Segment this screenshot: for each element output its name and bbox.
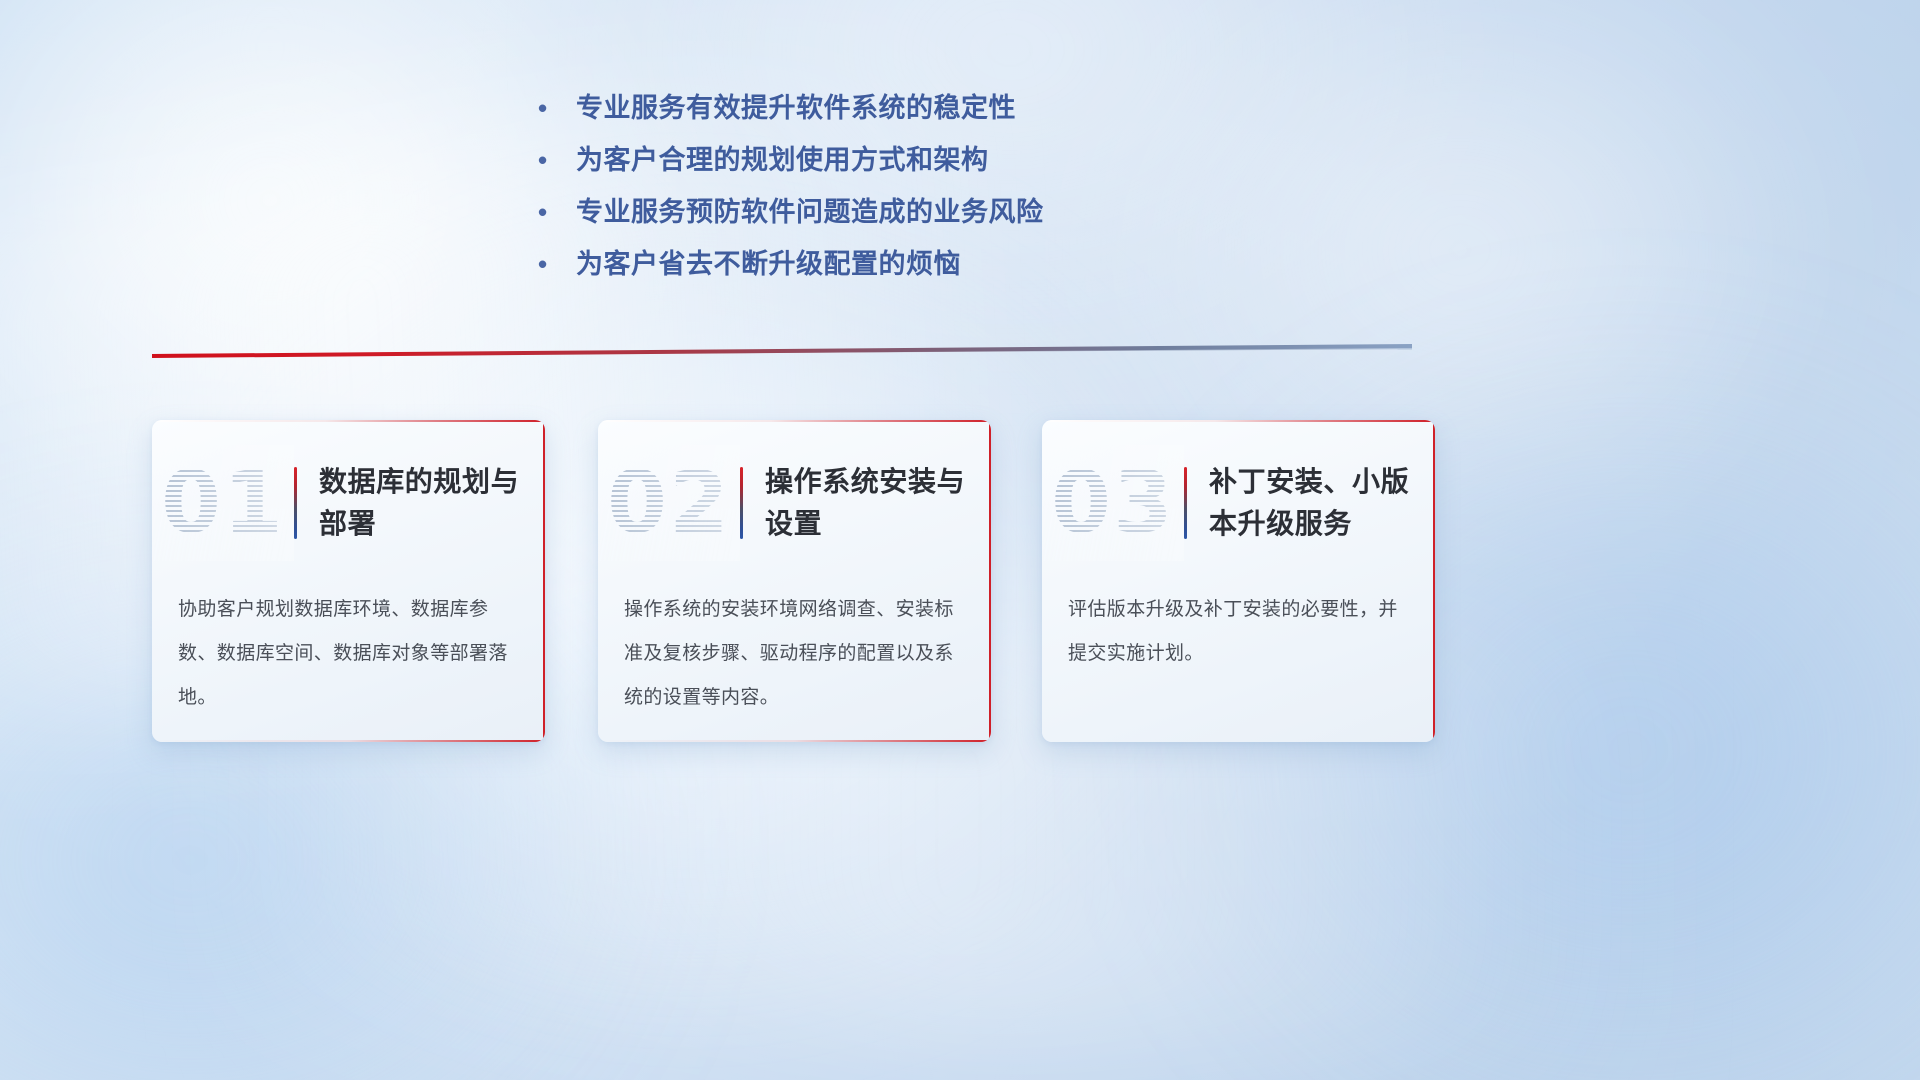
- benefits-bullet-list: • 专业服务有效提升软件系统的稳定性 • 为客户合理的规划使用方式和架构 • 专…: [538, 86, 1378, 294]
- divider-shape-icon: [152, 344, 1412, 370]
- bullet-dot-icon: •: [538, 95, 576, 121]
- card-top-accent: [152, 420, 545, 422]
- bullet-text: 专业服务预防软件问题造成的业务风险: [576, 190, 1044, 229]
- bullet-text: 为客户省去不断升级配置的烦恼: [576, 242, 961, 281]
- card-description: 操作系统的安装环境网络调查、安装标准及复核步骤、驱动程序的配置以及系统的设置等内…: [624, 588, 969, 720]
- card-description: 协助客户规划数据库环境、数据库参数、数据库空间、数据库对象等部署落地。: [178, 588, 523, 720]
- card-title: 数据库的规划与部署: [297, 461, 545, 545]
- card-header: 01 数据库的规划与部署: [152, 438, 545, 568]
- list-item: • 为客户合理的规划使用方式和架构: [538, 138, 1378, 190]
- bullet-dot-icon: •: [538, 199, 576, 225]
- service-cards: 01 数据库的规划与部署 协助客户规划数据库环境、数据库参数、数据库空间、数据库…: [0, 420, 1920, 750]
- section-divider: [152, 344, 1412, 370]
- list-item: • 专业服务有效提升软件系统的稳定性: [538, 86, 1378, 138]
- card-title: 补丁安装、小版本升级服务: [1187, 461, 1435, 545]
- list-item: • 专业服务预防软件问题造成的业务风险: [538, 190, 1378, 242]
- bullet-dot-icon: •: [538, 147, 576, 173]
- card-number-watermark: 02: [598, 445, 740, 561]
- card-top-accent: [1042, 420, 1435, 422]
- card-top-accent: [598, 420, 991, 422]
- card-description: 评估版本升级及补丁安装的必要性，并提交实施计划。: [1068, 588, 1413, 676]
- card-bottom-accent: [598, 740, 991, 742]
- bullet-text: 为客户合理的规划使用方式和架构: [576, 138, 989, 177]
- card-bottom-accent: [152, 740, 545, 742]
- bullet-text: 专业服务有效提升软件系统的稳定性: [576, 86, 1016, 125]
- service-card-01[interactable]: 01 数据库的规划与部署 协助客户规划数据库环境、数据库参数、数据库空间、数据库…: [152, 420, 545, 742]
- service-card-02[interactable]: 02 操作系统安装与设置 操作系统的安装环境网络调查、安装标准及复核步骤、驱动程…: [598, 420, 991, 742]
- card-number-watermark: 01: [152, 445, 294, 561]
- list-item: • 为客户省去不断升级配置的烦恼: [538, 242, 1378, 294]
- card-number-watermark: 03: [1042, 445, 1184, 561]
- card-header: 02 操作系统安装与设置: [598, 438, 991, 568]
- bullet-dot-icon: •: [538, 251, 576, 277]
- service-card-03[interactable]: 03 补丁安装、小版本升级服务 评估版本升级及补丁安装的必要性，并提交实施计划。: [1042, 420, 1435, 742]
- card-title: 操作系统安装与设置: [743, 461, 991, 545]
- card-header: 03 补丁安装、小版本升级服务: [1042, 438, 1435, 568]
